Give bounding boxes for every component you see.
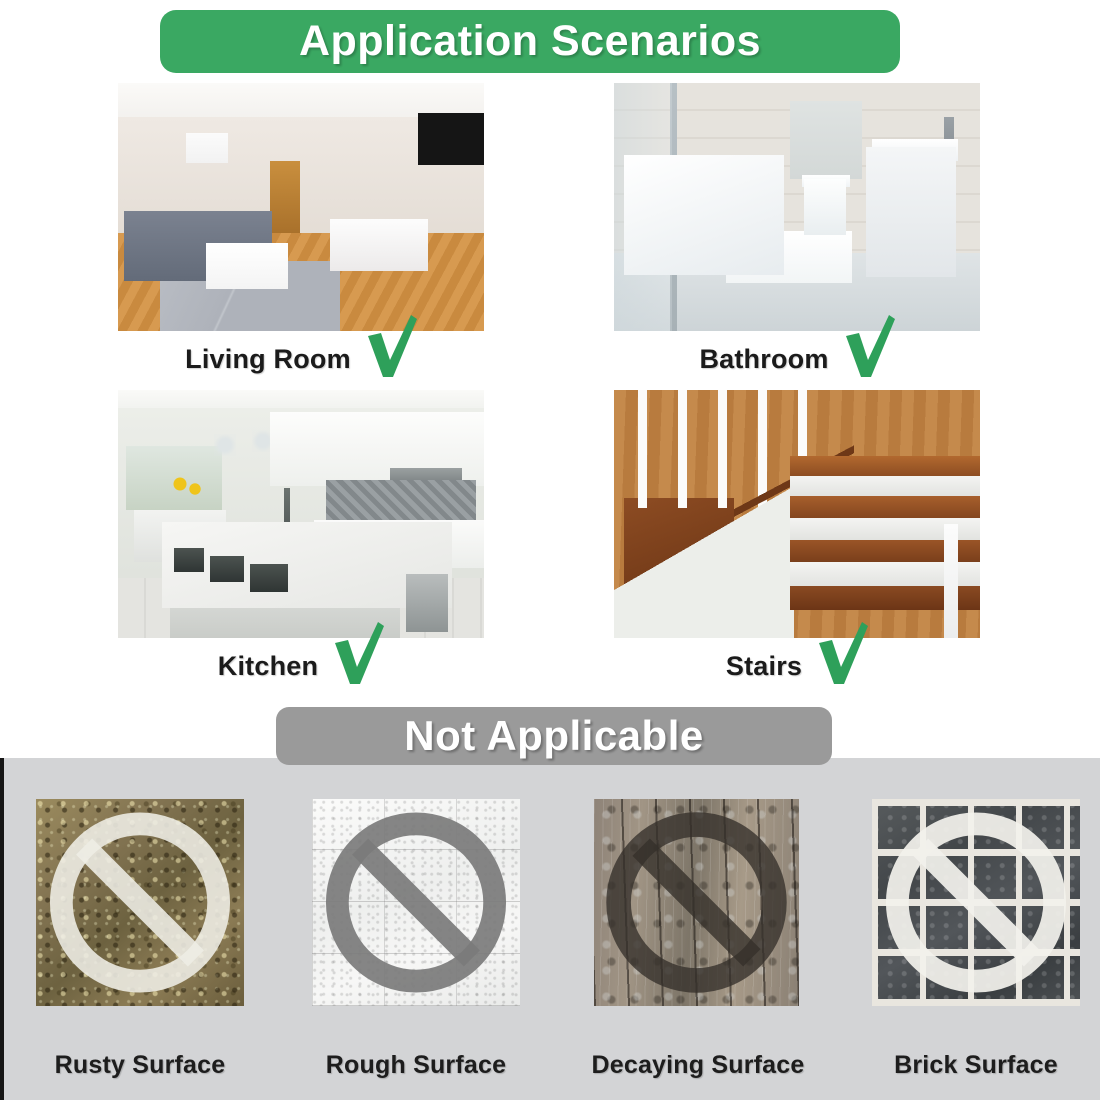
prohibition-sign-icon [594,799,799,1006]
prohibition-sign-icon [872,799,1080,1006]
scenario-label-stairs: Stairs [726,651,802,682]
scenario-label-bathroom: Bathroom [699,344,828,375]
application-scenarios-title: Application Scenarios [299,17,761,66]
stairs-photo [614,390,980,638]
scenario-caption: Living Room [118,331,484,387]
check-mark-icon [332,622,384,684]
check-mark-icon [365,315,417,377]
check-mark-icon [843,315,895,377]
check-mark-icon [816,622,868,684]
kitchen-photo [118,390,484,638]
not-applicable-section: Not Applicable Rusty Surface [0,758,1100,1100]
application-scenarios-banner: Application Scenarios [160,10,900,73]
rusty-surface-swatch [36,799,244,1006]
scenario-label-living-room: Living Room [185,344,351,375]
not-applicable-label-decaying-surface: Decaying Surface [578,1051,818,1080]
prohibition-sign-icon [36,799,244,1006]
scenario-caption: Stairs [614,638,980,694]
applicable-scenarios-grid: Living Room Bathroom [0,78,1100,698]
scenario-label-kitchen: Kitchen [218,651,318,682]
not-applicable-label-rough-surface: Rough Surface [296,1051,536,1080]
not-applicable-grid: Rusty Surface Rough Surface [0,758,1100,1100]
living-room-photo [118,83,484,331]
not-applicable-label-brick-surface: Brick Surface [856,1051,1096,1080]
prohibition-sign-icon [312,799,520,1006]
brick-surface-swatch [872,799,1080,1006]
not-applicable-banner: Not Applicable [276,707,832,765]
bathroom-photo [614,83,980,331]
scenario-caption: Bathroom [614,331,980,387]
rough-surface-swatch [312,799,520,1006]
scenario-caption: Kitchen [118,638,484,694]
application-scenarios-section: Application Scenarios Living Room Bathro… [0,0,1100,758]
not-applicable-label-rusty-surface: Rusty Surface [20,1051,260,1080]
not-applicable-title: Not Applicable [404,712,703,760]
decaying-surface-swatch [594,799,799,1006]
